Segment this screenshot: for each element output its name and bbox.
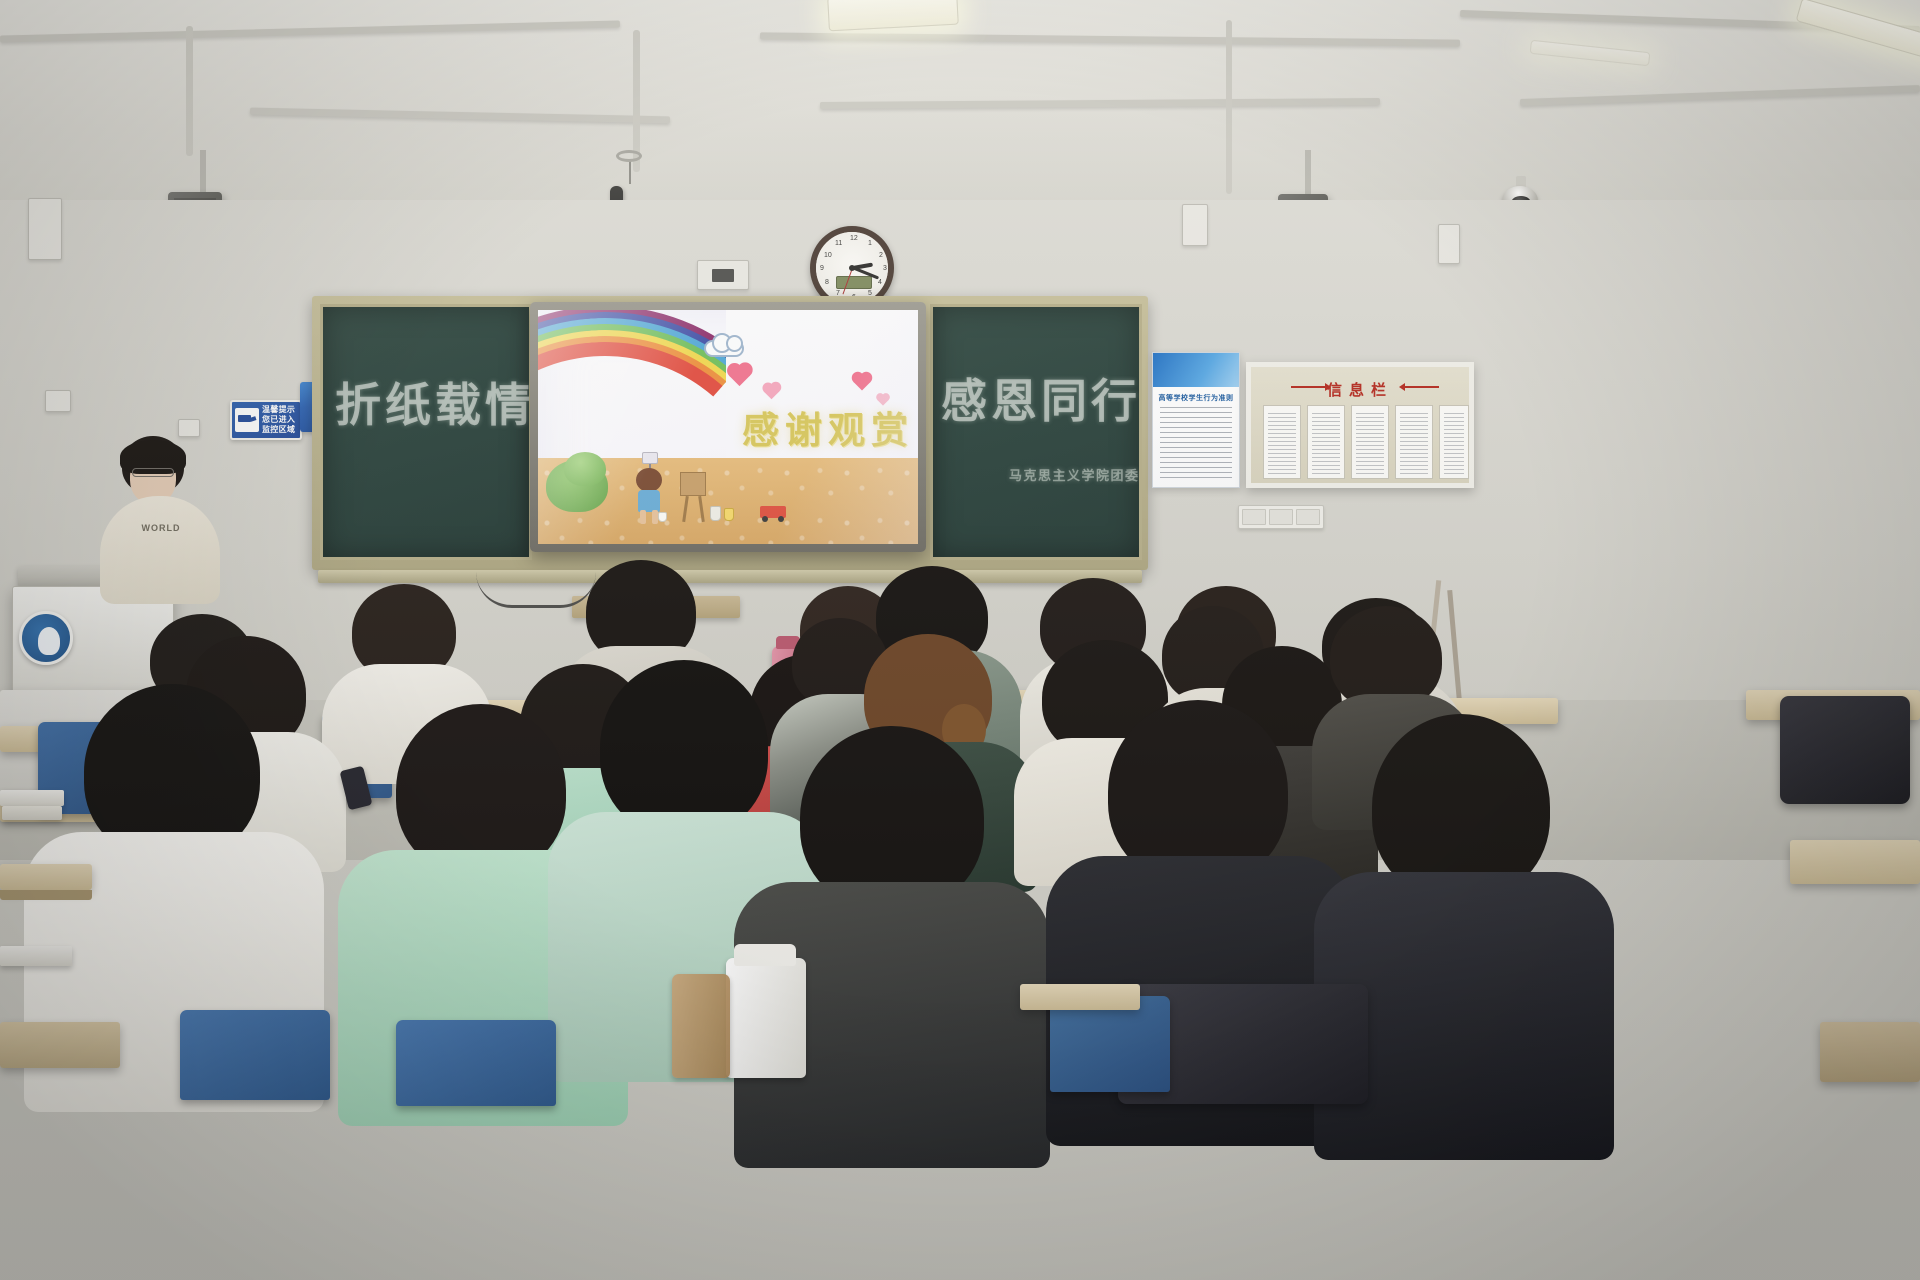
socket[interactable] — [1269, 509, 1293, 525]
paint-brush-head — [642, 452, 658, 464]
control-box-window — [712, 269, 734, 282]
info-sheet — [1439, 405, 1469, 479]
cctv-line-3: 监控区域 — [262, 425, 295, 435]
info-arrow-right — [1405, 386, 1439, 388]
desk — [1020, 984, 1140, 1010]
presentation-screen[interactable]: 感谢观赏 — [538, 310, 918, 544]
info-arrow-left — [1291, 386, 1325, 388]
wall-socket — [45, 390, 71, 412]
clock-number: 12 — [850, 235, 858, 242]
poster-body-lines — [1160, 407, 1232, 481]
child-head — [636, 468, 662, 492]
wall-conduit-box — [1438, 224, 1460, 264]
poster-subtitle: 高等学校学生行为准则 — [1153, 393, 1239, 403]
desk — [1820, 1022, 1920, 1082]
microphone-wire — [629, 160, 631, 184]
cctv-warning-sign: 温馨提示 您已进入 监控区域 — [230, 400, 302, 440]
desk — [0, 1022, 120, 1068]
clock-number: 4 — [878, 279, 882, 286]
student-hair — [600, 660, 768, 836]
paint-can — [724, 508, 734, 521]
bush-shape — [564, 452, 606, 486]
wall-socket-strip[interactable] — [1238, 505, 1324, 529]
wall-poster: 高等学校学生行为准则 — [1152, 352, 1240, 488]
cloud-shape — [704, 340, 744, 357]
chair — [180, 1010, 330, 1100]
blackboard-right-panel: 感恩同行 马克思主义学院团委 — [930, 304, 1142, 560]
cctv-sign-text: 温馨提示 您已进入 监控区域 — [259, 405, 295, 434]
info-sheet — [1351, 405, 1389, 479]
clock-number: 9 — [820, 265, 824, 272]
clock-lcd-display — [836, 276, 872, 289]
speaker-mount — [200, 150, 206, 194]
clock-number: 8 — [825, 279, 829, 286]
wall-control-box — [697, 260, 749, 290]
clock-number: 1 — [868, 240, 872, 247]
chalk-tray — [318, 570, 1142, 583]
chair — [396, 1020, 556, 1106]
clock-number: 3 — [883, 265, 887, 272]
socket[interactable] — [1242, 509, 1266, 525]
chalk-title-right: 感恩同行 — [941, 365, 1141, 431]
paint-can — [710, 506, 721, 521]
info-sheet — [1307, 405, 1345, 479]
cctv-line-2: 您已进入 — [262, 415, 295, 425]
ceiling-pipe — [186, 26, 193, 156]
easel-board — [680, 472, 706, 496]
ceiling-pipe — [1226, 20, 1232, 194]
paint-can — [658, 512, 667, 522]
desk — [0, 864, 92, 890]
toy-truck-wheel — [778, 516, 784, 522]
microphone-ring — [616, 150, 642, 162]
speaker-mount — [1305, 150, 1311, 194]
presenter-shirt-text: WORLD — [126, 522, 196, 552]
amber-bottle — [672, 974, 730, 1078]
thermos-cap — [734, 944, 796, 966]
chalk-title-left: 折纸载情 — [335, 369, 532, 435]
slide-thank-you-text: 感谢观赏 — [742, 400, 914, 454]
clock-number: 11 — [835, 240, 842, 247]
information-board: 信息栏 — [1246, 362, 1474, 488]
toy-truck-wheel — [762, 516, 768, 522]
smartboard-bezel[interactable]: 感谢观赏 — [530, 302, 926, 552]
info-board-title: 信息栏 — [1251, 379, 1469, 400]
clock-face: 12 1 2 3 4 5 6 7 8 9 10 11 — [816, 232, 888, 304]
clock-number: 10 — [824, 252, 832, 259]
info-sheet — [1263, 405, 1301, 479]
wall-socket — [178, 419, 200, 437]
cctv-camera-icon — [235, 408, 259, 432]
cctv-line-1: 温馨提示 — [262, 405, 295, 415]
socket[interactable] — [1296, 509, 1320, 525]
classroom-scene: 12 1 2 3 4 5 6 7 8 9 10 11 温馨提示 您已进入 监控区… — [0, 0, 1920, 1280]
notebook-stack — [0, 790, 64, 806]
desk — [1790, 840, 1920, 884]
university-emblem — [19, 611, 73, 665]
child-leg — [640, 510, 646, 524]
notebook-stack — [2, 806, 62, 820]
clock-number: 2 — [879, 252, 883, 259]
wall-conduit-box — [1182, 204, 1208, 246]
child-body — [638, 490, 660, 512]
black-backpack — [1780, 696, 1910, 804]
desk-edge — [0, 890, 92, 900]
notebook-stack — [0, 946, 72, 966]
clock-center — [849, 265, 855, 271]
info-sheet — [1395, 405, 1433, 479]
white-thermos — [726, 958, 806, 1078]
chair — [1050, 996, 1170, 1092]
power-cable — [476, 572, 596, 608]
chalk-signature: 马克思主义学院团委 — [1009, 465, 1140, 484]
blackboard-left-panel: 折纸载情 — [320, 304, 532, 560]
presenter-glasses — [132, 468, 174, 477]
wall-conduit-box — [28, 198, 62, 260]
